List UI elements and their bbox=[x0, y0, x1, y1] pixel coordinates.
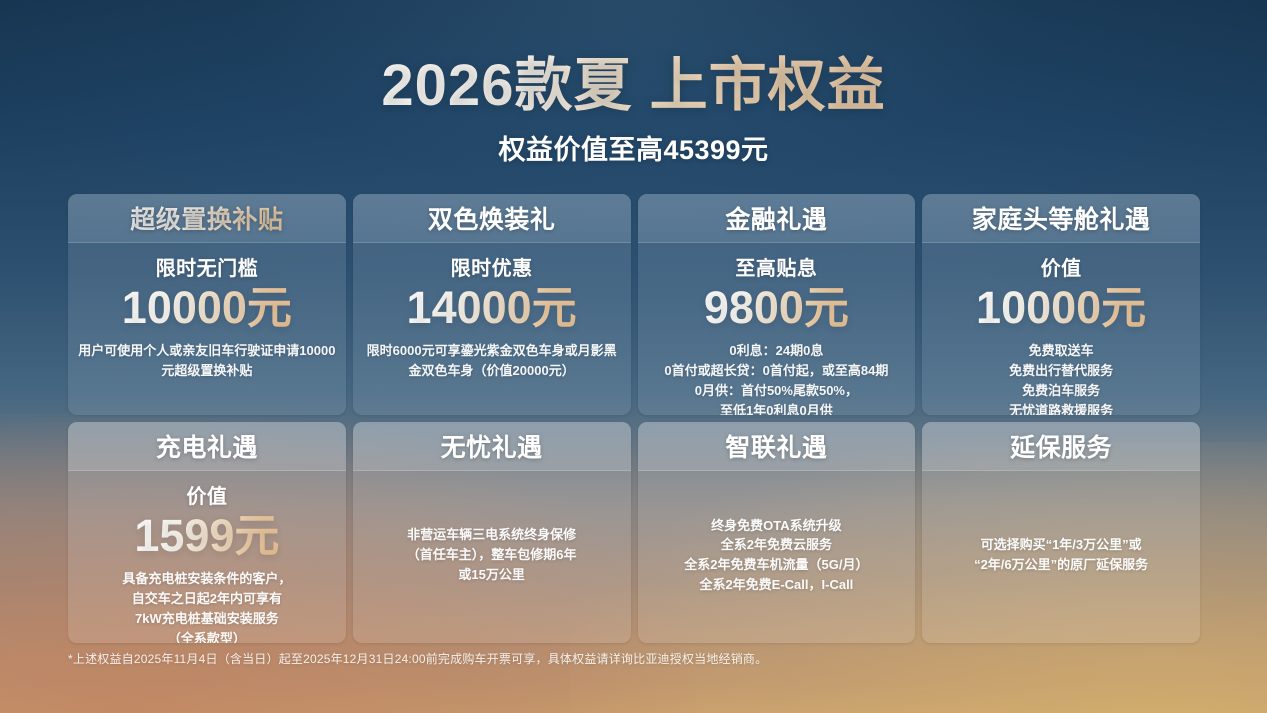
benefit-card-body: 限时无门槛10000元用户可使用个人或亲友旧车行驶证申请10000元超级置换补贴 bbox=[68, 243, 346, 415]
footnote-disclaimer: *上述权益自2025年11月4日（含当日）起至2025年12月31日24:00前… bbox=[68, 650, 767, 667]
benefit-card-title: 无忧礼遇 bbox=[441, 428, 543, 464]
benefit-value-amount: 1599元 bbox=[134, 511, 279, 561]
benefit-description: 用户可使用个人或亲友旧车行驶证申请10000元超级置换补贴 bbox=[78, 341, 336, 381]
benefit-value-label: 价值 bbox=[186, 485, 227, 510]
benefit-card[interactable]: 双色焕装礼限时优惠14000元限时6000元可享鎏光紫金双色车身或月影黑金双色车… bbox=[353, 194, 631, 415]
benefit-card-header: 智联礼遇 bbox=[638, 422, 916, 471]
benefit-value-amount: 9800元 bbox=[704, 283, 849, 333]
benefit-value-label: 至高贴息 bbox=[735, 257, 817, 282]
benefit-card[interactable]: 家庭头等舱礼遇价值10000元免费取送车免费出行替代服务免费泊车服务无忧道路救援… bbox=[922, 194, 1200, 415]
benefit-card-header: 双色焕装礼 bbox=[353, 194, 631, 243]
benefit-card-title: 金融礼遇 bbox=[725, 200, 827, 236]
benefit-description: 限时6000元可享鎏光紫金双色车身或月影黑金双色车身（价值20000元） bbox=[363, 341, 621, 381]
page-title: 2026款夏 上市权益 bbox=[381, 52, 885, 120]
benefit-card-title: 智联礼遇 bbox=[725, 428, 827, 464]
benefit-description: 具备充电桩安装条件的客户，自交车之日起2年内可享有7kW充电桩基础安装服务（全系… bbox=[122, 569, 291, 643]
benefit-description: 0利息：24期0息0首付或超长贷：0首付起，或至高84期0月供：首付50%尾款5… bbox=[664, 341, 888, 415]
benefit-card[interactable]: 金融礼遇至高贴息9800元0利息：24期0息0首付或超长贷：0首付起，或至高84… bbox=[638, 194, 916, 415]
benefits-grid: 超级置换补贴限时无门槛10000元用户可使用个人或亲友旧车行驶证申请10000元… bbox=[68, 194, 1200, 643]
page-subtitle: 权益价值至高45399元 bbox=[0, 128, 1267, 167]
benefit-value-amount: 14000元 bbox=[407, 283, 577, 333]
benefit-description: 非营运车辆三电系统终身保修（首任车主），整车包修期6年或15万公里 bbox=[407, 525, 577, 584]
benefit-value-amount: 10000元 bbox=[122, 283, 292, 333]
benefit-card-title: 家庭头等舱礼遇 bbox=[972, 200, 1151, 236]
benefit-card-header: 无忧礼遇 bbox=[353, 422, 631, 471]
benefit-card[interactable]: 无忧礼遇非营运车辆三电系统终身保修（首任车主），整车包修期6年或15万公里 bbox=[353, 422, 631, 643]
benefit-card[interactable]: 智联礼遇终身免费OTA系统升级全系2年免费云服务全系2年免费车机流量（5G/月）… bbox=[638, 422, 916, 643]
benefit-card-body: 价值1599元具备充电桩安装条件的客户，自交车之日起2年内可享有7kW充电桩基础… bbox=[68, 471, 346, 643]
benefit-value-amount: 10000元 bbox=[976, 283, 1146, 333]
benefit-card-title: 双色焕装礼 bbox=[428, 200, 556, 236]
benefit-card-header: 家庭头等舱礼遇 bbox=[922, 194, 1200, 243]
benefit-description: 终身免费OTA系统升级全系2年免费云服务全系2年免费车机流量（5G/月）全系2年… bbox=[684, 516, 868, 595]
benefit-card-title: 充电礼遇 bbox=[156, 428, 258, 464]
benefit-card-header: 金融礼遇 bbox=[638, 194, 916, 243]
benefit-card-body: 至高贴息9800元0利息：24期0息0首付或超长贷：0首付起，或至高84期0月供… bbox=[638, 243, 916, 415]
benefit-value-label: 限时优惠 bbox=[451, 257, 533, 282]
benefit-card-title: 超级置换补贴 bbox=[130, 200, 283, 236]
benefit-card-body: 限时优惠14000元限时6000元可享鎏光紫金双色车身或月影黑金双色车身（价值2… bbox=[353, 243, 631, 415]
benefit-card-body: 非营运车辆三电系统终身保修（首任车主），整车包修期6年或15万公里 bbox=[353, 471, 631, 643]
benefit-card-title: 延保服务 bbox=[1010, 428, 1112, 464]
benefit-card-header: 超级置换补贴 bbox=[68, 194, 346, 243]
benefit-card-body: 可选择购买“1年/3万公里”或“2年/6万公里”的原厂延保服务 bbox=[922, 471, 1200, 643]
benefit-card-body: 价值10000元免费取送车免费出行替代服务免费泊车服务无忧道路救援服务 bbox=[922, 243, 1200, 415]
benefit-card-body: 终身免费OTA系统升级全系2年免费云服务全系2年免费车机流量（5G/月）全系2年… bbox=[638, 471, 916, 643]
benefit-card-header: 延保服务 bbox=[922, 422, 1200, 471]
benefit-description: 可选择购买“1年/3万公里”或“2年/6万公里”的原厂延保服务 bbox=[974, 535, 1148, 575]
benefit-card[interactable]: 超级置换补贴限时无门槛10000元用户可使用个人或亲友旧车行驶证申请10000元… bbox=[68, 194, 346, 415]
benefit-description: 免费取送车免费出行替代服务免费泊车服务无忧道路救援服务 bbox=[1009, 341, 1113, 415]
benefit-card[interactable]: 充电礼遇价值1599元具备充电桩安装条件的客户，自交车之日起2年内可享有7kW充… bbox=[68, 422, 346, 643]
benefit-value-label: 价值 bbox=[1041, 257, 1082, 282]
benefit-value-label: 限时无门槛 bbox=[156, 257, 259, 282]
page-header: 2026款夏 上市权益 权益价值至高45399元 bbox=[0, 0, 1267, 167]
benefit-card-header: 充电礼遇 bbox=[68, 422, 346, 471]
benefit-card[interactable]: 延保服务可选择购买“1年/3万公里”或“2年/6万公里”的原厂延保服务 bbox=[922, 422, 1200, 643]
